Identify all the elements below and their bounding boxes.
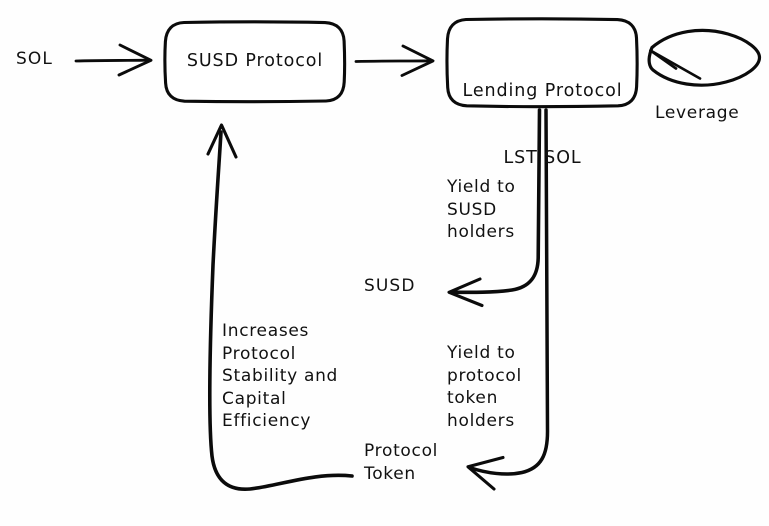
node-label-susd-token: SUSD — [364, 276, 416, 298]
edge-protocol-token-to-susd-line — [210, 132, 352, 489]
edge-label-leverage: Leverage — [655, 102, 739, 125]
leverage-arrowhead-barb-2 — [651, 51, 677, 69]
edge-susd-to-lending-line — [356, 61, 430, 62]
edge-label-increases-protocol-stability: Increases Protocol Stability and Capital… — [222, 320, 338, 433]
edge-protocol-token-to-susd-protocol — [208, 125, 352, 489]
edge-sol-to-susd-protocol — [76, 45, 151, 75]
edge-sol-to-susd-line — [76, 60, 148, 61]
edge-label-yield-to-susd-holders: Yield to SUSD holders — [447, 176, 516, 244]
node-label-sol: SOL — [16, 49, 53, 71]
edge-label-yield-to-protocol-token-holders: Yield to protocol token holders — [447, 342, 522, 432]
edge-susd-to-lending — [356, 46, 433, 76]
diagram-canvas: SOL SUSD Protocol Lending Protocol LST S… — [0, 0, 769, 526]
node-label-lending-protocol-line1: Lending Protocol — [448, 80, 637, 102]
node-label-protocol-token: Protocol Token — [364, 440, 438, 485]
node-label-lending-protocol-line2: LST SOL — [448, 147, 637, 169]
edge-lending-self-loop-leverage — [649, 30, 759, 85]
node-label-susd-protocol: SUSD Protocol — [166, 50, 344, 72]
